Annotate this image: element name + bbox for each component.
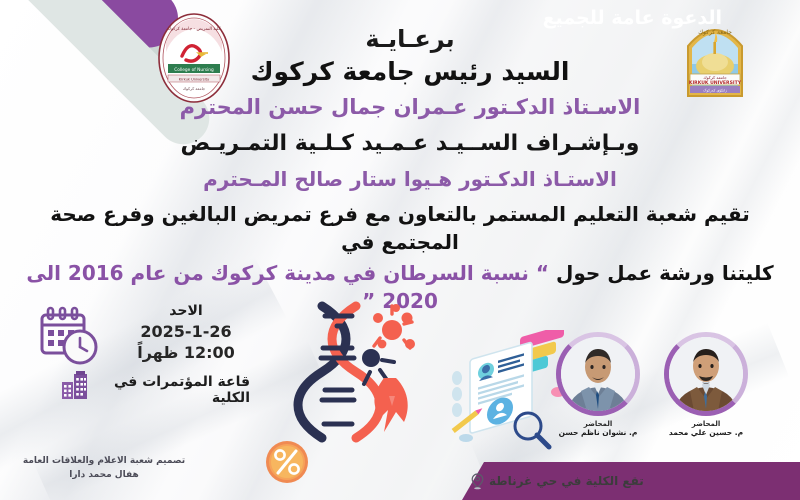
president-title: السيد رئيس جامعة كركوك — [140, 58, 680, 86]
venue-text: قاعة المؤتمرات في الكلية — [100, 374, 250, 406]
patronage-label: برعـايـة — [140, 26, 680, 53]
event-poster: كلية التمريض - جامعة كركوك College of Nu… — [0, 0, 800, 500]
datetime-text: الاحد 2025-1-26 12:00 ظهراً — [116, 302, 256, 364]
speaker-caption: المحاضر م. نشوان ناظم حسن — [552, 420, 644, 437]
invitation-text: الدعوة عامة للجميع — [543, 7, 722, 29]
supervision-label: وبـإشـراف الســيـد عـمـيد كـلـية التمـري… — [140, 132, 680, 157]
svg-text:جامعة كركوك: جامعة كركوك — [703, 75, 727, 80]
workshop-lead-in: كليتنا ورشة عمل حول — [556, 261, 774, 285]
percent-coin-icon — [265, 440, 309, 484]
speaker-portrait — [669, 337, 743, 411]
design-credit-line-1: تصميم شعبة الاعلام والعلاقات العامة — [14, 455, 194, 469]
president-name: الاسـتاذ الدكـتور عـمران جمال حسن المحتر… — [140, 96, 680, 120]
event-day: الاحد — [116, 302, 256, 321]
design-credit: تصميم شعبة الاعلام والعلاقات العامة هفال… — [14, 455, 194, 482]
svg-text:KIRKUK UNIVERSITY: KIRKUK UNIVERSITY — [689, 80, 742, 86]
venue-row: قاعة المؤتمرات في الكلية — [26, 368, 256, 400]
speaker-photo — [664, 332, 748, 416]
speaker-name: م. نشوان ناظم حسن — [552, 428, 644, 437]
event-details: الاحد 2025-1-26 12:00 ظهراً — [26, 300, 256, 400]
dna-cancer-ribbon-illustration — [292, 300, 432, 445]
map-pin-icon — [470, 473, 485, 490]
location-row: تقع الكلية في حي غرناطة — [470, 470, 660, 492]
location-text: تقع الكلية في حي غرناطة — [489, 474, 644, 488]
calendar-clock-icon — [38, 306, 100, 366]
event-description-line-1: تقيم شعبة التعليم المستمر بالتعاون مع فر… — [26, 200, 774, 257]
design-credit-line-2: هفال محمد دارا — [14, 469, 194, 483]
speaker-card: المحاضر م. نشوان ناظم حسن — [552, 332, 644, 437]
speaker-name: م. حسين علي محمد — [660, 428, 752, 437]
building-icon — [60, 370, 90, 400]
datetime-row: الاحد 2025-1-26 12:00 ظهراً — [30, 302, 256, 368]
svg-text:جامعة كركوك: جامعة كركوك — [183, 86, 206, 91]
stripe-purple — [0, 0, 2, 101]
speaker-caption: المحاضر م. حسين علي محمد — [660, 420, 752, 437]
dean-name: الاستـاذ الدكـتور هـيوا ستار صالح المـحت… — [140, 168, 680, 190]
event-time: 12:00 ظهراً — [116, 342, 256, 364]
speaker-card: المحاضر م. حسين علي محمد — [660, 332, 752, 437]
event-date: 2025-1-26 — [116, 321, 256, 343]
speaker-role: المحاضر — [552, 420, 644, 428]
speaker-portrait — [561, 337, 635, 411]
svg-text:زانكۆی کەرکوک: زانكۆی کەرکوک — [703, 87, 727, 92]
speaker-photo — [556, 332, 640, 416]
event-description: تقيم شعبة التعليم المستمر بالتعاون مع فر… — [26, 200, 774, 316]
speaker-role: المحاضر — [660, 420, 752, 428]
